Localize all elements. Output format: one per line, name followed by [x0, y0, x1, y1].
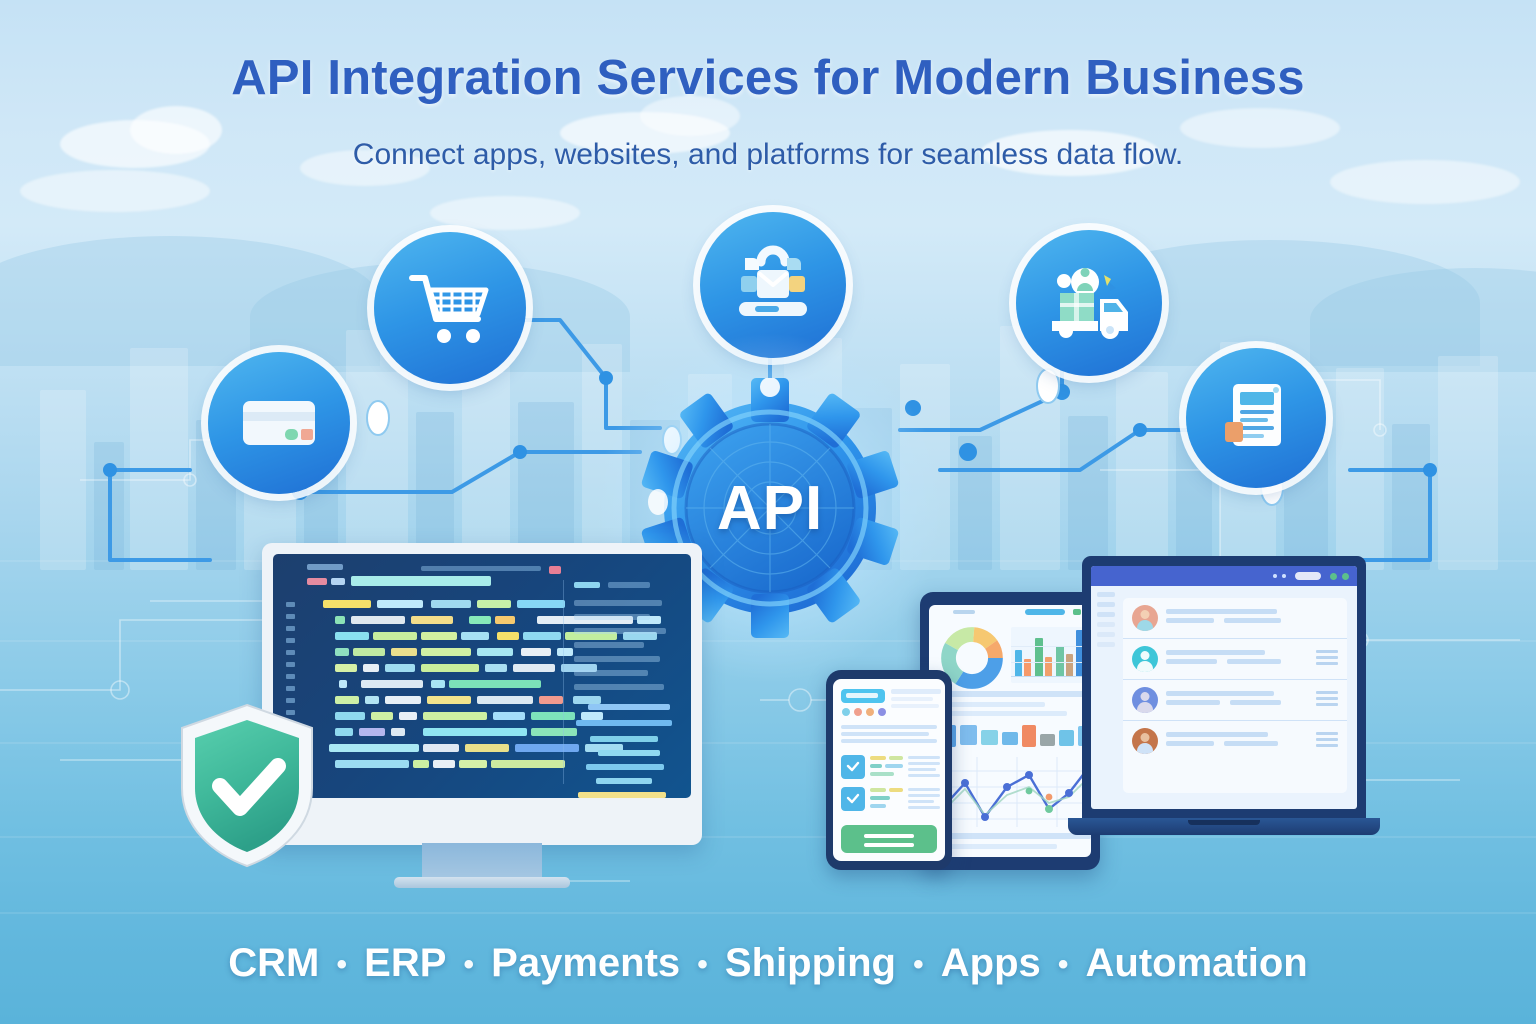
row-actions[interactable] [1316, 732, 1338, 750]
laptop [1068, 556, 1380, 852]
laptop-lid [1082, 556, 1366, 821]
credit-card-icon[interactable] [208, 352, 350, 494]
table-row[interactable] [1123, 680, 1347, 721]
keyword-separator: • [1058, 948, 1069, 981]
keyword-strip: CRM • ERP • Payments • Shipping • Apps •… [0, 941, 1536, 986]
credit-card-glyph [239, 393, 319, 453]
primary-cta-button[interactable] [841, 825, 937, 853]
shopping-cart-glyph [408, 270, 492, 346]
security-shield-icon[interactable] [172, 700, 322, 872]
monitor-screen[interactable] [273, 554, 691, 798]
page-title: API Integration Services for Modern Busi… [0, 50, 1536, 106]
row-actions[interactable] [1316, 650, 1338, 668]
keyword-payments: Payments [491, 941, 680, 985]
row-actions[interactable] [1316, 691, 1338, 709]
keyword-separator: • [913, 948, 924, 981]
delivery-truck-icon[interactable] [1016, 230, 1162, 376]
keyword-separator: • [697, 948, 708, 981]
checklist-checkbox[interactable] [841, 787, 865, 811]
window-dot[interactable] [1330, 573, 1337, 580]
laptop-screen[interactable] [1091, 566, 1357, 809]
avatar [1132, 728, 1158, 754]
shield-glyph [172, 700, 322, 872]
table-row[interactable] [1123, 598, 1347, 639]
page-subtitle: Connect apps, websites, and platforms fo… [0, 138, 1536, 172]
keyword-erp: ERP [364, 941, 446, 985]
checklist-checkbox[interactable] [841, 755, 865, 779]
editor-side-panel [563, 580, 681, 784]
hero-banner: API Integration Services for Modern Busi… [0, 0, 1536, 1024]
laptop-trackpad-notch [1188, 820, 1260, 825]
crm-contact-list [1123, 598, 1347, 793]
table-row[interactable] [1123, 639, 1347, 680]
table-row[interactable] [1123, 721, 1347, 761]
window-titlebar [1091, 566, 1357, 586]
desktop-monitor [262, 543, 702, 845]
avatar [1132, 605, 1158, 631]
document-invoice-icon[interactable] [1186, 348, 1326, 488]
check-icon [845, 759, 861, 775]
email-app-glyph [727, 244, 819, 326]
window-dot[interactable] [1342, 573, 1349, 580]
keyword-shipping: Shipping [725, 941, 896, 985]
phone-screen[interactable] [833, 679, 945, 861]
keyword-separator: • [464, 948, 475, 981]
keyword-apps: Apps [941, 941, 1041, 985]
avatar [1132, 646, 1158, 672]
shopping-cart-icon[interactable] [374, 232, 526, 384]
keyword-separator: • [337, 948, 348, 981]
monitor-stand [422, 843, 542, 881]
avatar [1132, 687, 1158, 713]
tablet-screen[interactable] [929, 605, 1091, 857]
keyword-automation: Automation [1086, 941, 1308, 985]
document-glyph [1219, 378, 1293, 458]
laptop-sidebar [1095, 592, 1117, 803]
delivery-truck-glyph [1042, 265, 1136, 341]
smartphone [826, 670, 952, 870]
keyword-crm: CRM [228, 941, 319, 985]
check-icon [845, 791, 861, 807]
monitor-foot [394, 877, 570, 888]
